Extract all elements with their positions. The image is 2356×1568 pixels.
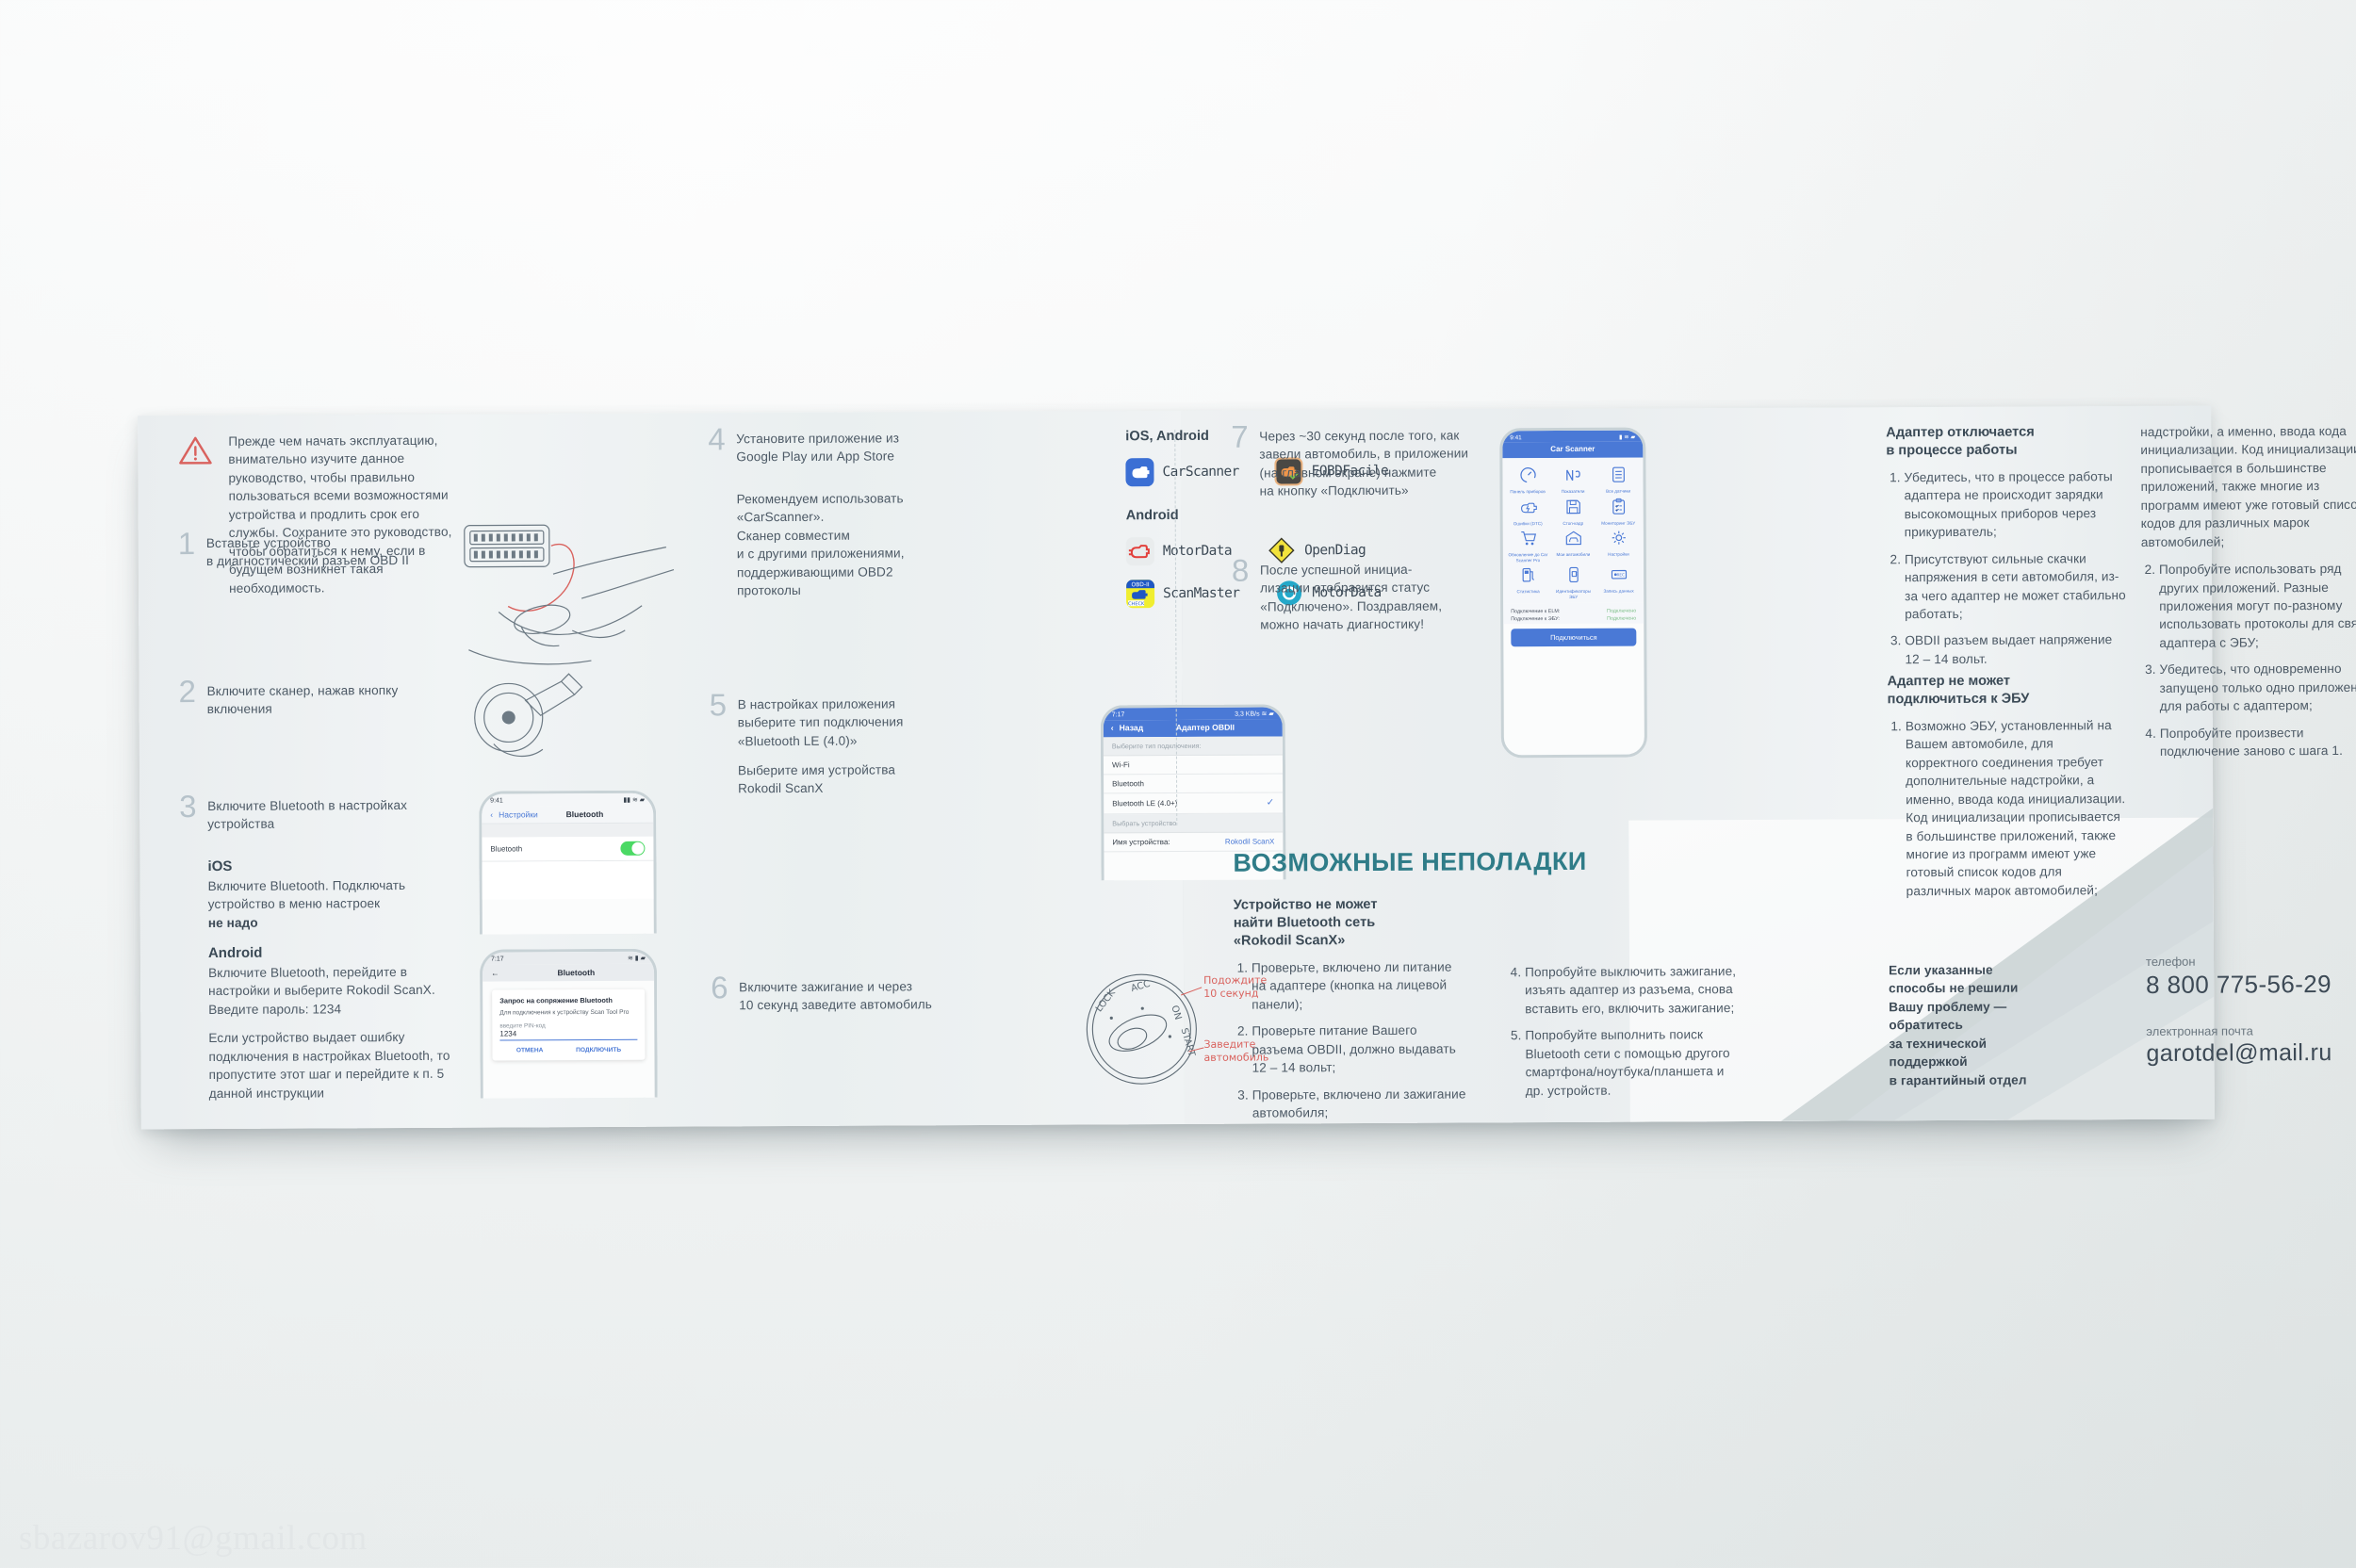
adapter-ecu-section: Адаптер не может подключиться к ЭБУ Возм… (1888, 672, 2129, 901)
tile-label: Ошибки (DTC) (1507, 521, 1549, 527)
step-3-line-1: Включите Bluetooth в настройках (207, 796, 443, 816)
tile-label: Мониторинг ЭБУ (1597, 520, 1640, 526)
phone-obd2-title: Адаптер OBDII (1136, 722, 1275, 732)
phone-android-title: Bluetooth (507, 968, 646, 978)
step-1-line-2: в диагностический разъем OBD II (206, 551, 461, 571)
tile-dtc[interactable]: Ошибки (DTC) (1507, 498, 1549, 527)
clipboard-check-icon (1608, 497, 1628, 515)
bluetooth-toggle[interactable] (620, 841, 645, 856)
chevron-left-icon[interactable]: ‹ (490, 810, 493, 820)
troubleshooting-subtitle-l2: найти Bluetooth сеть (1234, 913, 1469, 932)
phone-ios-navbar: ‹ Настройки Bluetooth (482, 806, 653, 825)
step-5-line-1: В настройках приложения (738, 694, 945, 714)
step-8: 8 После успешной инициа- лизации отобраз… (1232, 560, 1477, 634)
app-motordata[interactable]: MotorData (1126, 537, 1232, 566)
step-3: 3 Включите Bluetooth в настройках устрой… (179, 796, 443, 834)
status-ecu-value: Подключено (1607, 616, 1636, 622)
list-item: Попробуйте использовать ряд других прило… (2159, 560, 2356, 652)
adapter-disconnect-list: Убедитесь, что в процессе работы адаптер… (1886, 467, 2127, 669)
phone-ios-bluetooth-row[interactable]: Bluetooth (482, 837, 653, 862)
fuel-pump-icon (1517, 565, 1538, 584)
step-8-line-1: После успешной инициа- (1260, 560, 1477, 580)
graph-icon (1562, 465, 1583, 484)
android-block: Android Включите Bluetooth, перейдите в … (208, 944, 459, 1102)
phone-obd2-header-2: Выбрать устройство (1104, 813, 1283, 833)
step-3-line-2: устройства (207, 814, 443, 834)
tile-label: Запись данных (1597, 589, 1640, 595)
warning-block: Прежде чем начать эксплуатацию, внимател… (177, 432, 461, 597)
carscanner-title: Car Scanner (1502, 442, 1643, 459)
step-8-line-3: «Подключено». Поздравляем, (1260, 596, 1477, 616)
troubleshooting-subtitle: Устройство не может найти Bluetooth сеть… (1234, 895, 1469, 950)
adapter-ecu-title-l1: Адаптер не может (1888, 672, 2128, 691)
step-7-line-4: на кнопку «Подключить» (1260, 482, 1477, 501)
phone-obd2-signal-icon: 3,3 KB/s ≋ ▰ (1235, 710, 1274, 717)
tile-identifiers[interactable]: Идентификаторы ЭБУ (1552, 565, 1595, 599)
list-item: Убедитесь, что одновременно запущено тол… (2159, 660, 2356, 715)
step-7: 7 Через ~30 секунд после того, как завел… (1231, 426, 1476, 500)
adapter-disconnect-title-l2: в процессе работы (1886, 441, 2126, 460)
step-7-line-2: завели автомобиль, в приложении (1259, 445, 1476, 465)
contact-block: телефон 8 800 775-56-29 электронная почт… (2146, 954, 2356, 1068)
phone-obd2-time: 7:17 (1112, 711, 1125, 718)
obd2-option-label: Bluetooth LE (4.0+) (1112, 799, 1177, 808)
adapter-disconnect-section: Адаптер отключается в процессе работы Уб… (1886, 423, 2127, 669)
support-text-l3: Вашу проблему — (1889, 997, 2086, 1016)
app-scanmaster[interactable]: OBD-II CHECK ScanMaster (1126, 580, 1239, 609)
app-carscanner-label: CarScanner (1162, 465, 1238, 480)
phone-obd2-row-bluetooth[interactable]: Bluetooth (1104, 774, 1283, 793)
tile-label: Идентификаторы ЭБУ (1552, 589, 1595, 599)
ios-line-3: не надо (208, 913, 463, 933)
motordata-app-icon (1126, 537, 1154, 565)
troubleshooting-list-right: Попробуйте выключить зажигание, изъять а… (1507, 962, 1743, 1100)
carscanner-time: 9:41 (1510, 434, 1521, 441)
carscanner-signal-icon: ▮ ≋ ▰ (1619, 433, 1635, 441)
step4-note-1: Рекомендуем использовать «CarScanner». (737, 489, 940, 527)
tile-settings[interactable]: Настройки (1597, 529, 1640, 563)
phone-label: телефон (2146, 954, 2356, 969)
svg-text:CHECK: CHECK (1128, 601, 1145, 607)
tile-label: Статистика (1507, 589, 1549, 595)
phone-android-time: 7:17 (491, 955, 504, 962)
phone-ios-bluetooth-label: Bluetooth (490, 844, 522, 853)
tile-label: Мои автомобили (1552, 552, 1595, 558)
step-7-line-3: (на главном экране) нажмите (1259, 463, 1476, 482)
phone-obd2-navbar: ‹ Назад Адаптер OBDII (1104, 719, 1283, 737)
tile-mycars[interactable]: Мои автомобили (1552, 529, 1595, 563)
email-label: электронная почта (2146, 1023, 2356, 1038)
list-item: Попробуйте выключить зажигание, изъять а… (1525, 962, 1742, 1018)
ios-block: iOS Включите Bluetooth. Подключать устро… (207, 857, 462, 933)
status-row-ecu: Подключение к ЭБУ: Подключено (1511, 616, 1636, 623)
step5-note-1: Выберите имя устройства (738, 760, 945, 780)
chip-phone-icon (1562, 565, 1583, 584)
tile-indicators[interactable]: Показатели (1551, 465, 1594, 495)
obd2-device-label: Имя устройства: (1112, 838, 1170, 846)
list-item: Попробуйте выполнить поиск Bluetooth сет… (1525, 1025, 1742, 1100)
rec-icon: REC (1608, 565, 1628, 584)
phone-carscanner: 9:41 ▮ ≋ ▰ Car Scanner Панель приборов П… (1499, 428, 1647, 759)
status-ecu-label: Подключение к ЭБУ: (1511, 616, 1560, 622)
step-6: 6 Включите зажигание и через 10 секунд з… (711, 977, 956, 1015)
step-2-line-1: Включите сканер, нажав кнопку (207, 681, 462, 701)
tile-monitoring[interactable]: Мониторинг ЭБУ (1597, 497, 1640, 526)
list-item: Проверьте, включено ли питание на адапте… (1252, 957, 1469, 1013)
carscanner-app-icon (1125, 458, 1153, 486)
apps-heading-android: Android (1126, 506, 1362, 525)
step-2: 2 Включите сканер, нажав кнопку включени… (179, 681, 462, 719)
phone-ios-bluetooth: 9:41 ▮▮ ≋ ▰ ‹ Настройки Bluetooth Blueto… (479, 791, 657, 935)
step-1: 1 Вставьте устройство в диагностический … (178, 533, 461, 571)
step-4: 4 Установите приложение из Google Play и… (708, 429, 934, 466)
adapter-disconnect-title-l1: Адаптер отключается (1886, 423, 2126, 442)
support-text-l7: в гарантийный отдел (1890, 1070, 2087, 1089)
scanmaster-app-icon: OBD-II CHECK (1126, 580, 1154, 608)
list-item: Проверьте питание Вашего разъема OBDII, … (1252, 1021, 1469, 1077)
support-text-l2: способы не решили (1889, 979, 2086, 998)
carscanner-tile-grid: Панель приборов Показатели Все датчики О… (1502, 458, 1644, 604)
phone-android-statusbar: 7:17 ≋ ▮ ▰ (483, 952, 654, 965)
support-text-l5: за технической (1889, 1034, 2086, 1053)
tile-label: Показатели (1552, 489, 1595, 495)
ios-line-1: Включите Bluetooth. Подключать (208, 876, 463, 896)
tile-label: Все датчики (1597, 489, 1640, 495)
cart-icon (1517, 529, 1538, 547)
phone-ios-time: 9:41 (490, 797, 503, 804)
step-5-number: 5 (710, 689, 728, 720)
obd2-option-label: Bluetooth (1112, 779, 1144, 788)
step-8-number: 8 (1232, 555, 1250, 586)
list-item: Присутствуют сильные скачки напряжения в… (1905, 549, 2127, 624)
pairing-dialog-title: Запрос на сопряжение Bluetooth (499, 996, 637, 1005)
step-8-line-2: лизации отобразится статус (1260, 579, 1477, 598)
adapter-ecu-list-left: Возможно ЭБУ, установленный на Вашем авт… (1888, 716, 2129, 901)
list-item: Проверьте, включено ли зажигание автомоб… (1252, 1085, 1470, 1122)
troubleshooting-list-left: Проверьте, включено ли питание на адапте… (1234, 957, 1470, 1122)
tile-all-sensors[interactable]: Все датчики (1596, 465, 1639, 495)
android-paragraph-2: Если устройство выдает ошибку подключени… (208, 1028, 458, 1102)
phone-android-signal-icon: ≋ ▮ ▰ (628, 955, 646, 962)
troubleshooting-banner: ВОЗМОЖНЫЕ НЕПОЛАДКИ (1233, 846, 1760, 878)
svg-text:REC: REC (1616, 572, 1625, 577)
support-text-l4: обратитесь (1889, 1016, 2086, 1035)
support-text-l1: Если указанные (1889, 960, 2086, 979)
step-5-line-2: выберите тип подключения (738, 713, 945, 733)
ignition-switch-diagram: LOCK ACC ON START Подождите 10 секунд За… (1083, 957, 1253, 1109)
step4-note-5: протоколы (737, 580, 940, 599)
step-1-number: 1 (178, 528, 196, 559)
step-6-line-1: Включите зажигание и через (739, 977, 956, 997)
tile-label: Настройки (1597, 552, 1640, 558)
ios-title: iOS (207, 857, 462, 874)
carscanner-status-block: Подключение к ELM: Подключено Подключени… (1503, 603, 1644, 625)
tile-statistics[interactable]: Статистика (1507, 565, 1549, 599)
floppy-save-icon (1562, 497, 1583, 515)
ecu-item-1-continued: надстройки, а именно, ввода кода инициал… (2140, 422, 2356, 551)
step-4-note: Рекомендуем использовать «CarScanner». С… (737, 489, 941, 600)
pin-input[interactable]: 1234 (499, 1029, 637, 1041)
phone-android-navbar: ← Bluetooth (483, 964, 654, 982)
warning-text: Прежде чем начать эксплуатацию, внимател… (228, 432, 461, 597)
phone-ios-statusbar: 9:41 ▮▮ ≋ ▰ (482, 793, 653, 807)
warning-triangle-icon (177, 434, 213, 466)
svg-text:OBD-II: OBD-II (1131, 581, 1149, 588)
carscanner-statusbar: 9:41 ▮ ≋ ▰ (1502, 431, 1643, 443)
tile-label: Панель приборов (1507, 489, 1549, 495)
back-arrow-icon[interactable]: ← (491, 969, 499, 978)
list-item: Попробуйте произвести подключение заново… (2160, 723, 2356, 760)
adapter-ecu-title-l2: подключиться к ЭБУ (1888, 690, 2128, 709)
pairing-cancel-button[interactable]: ОТМЕНА (516, 1047, 544, 1053)
checkmark-icon: ✓ (1267, 797, 1274, 808)
android-title: Android (208, 944, 458, 961)
adapter-disconnect-title: Адаптер отключается в процессе работы (1886, 423, 2126, 460)
list-icon (1608, 465, 1628, 484)
tile-recording[interactable]: RECЗапись данных (1597, 565, 1640, 599)
tile-upgrade[interactable]: Обновление до Car Scanner Pro (1507, 529, 1549, 563)
support-text: Если указанные способы не решили Вашу пр… (1889, 960, 2087, 1089)
dashboard-gauge-icon (1517, 465, 1538, 484)
chevron-left-icon[interactable]: ‹ (1111, 723, 1114, 732)
ignition-switch-icon: LOCK ACC ON START (1083, 957, 1216, 1100)
step-2-line-2: включения (207, 699, 462, 719)
step5-note-2: Rokodil ScanX (738, 779, 945, 799)
troubleshooting-subtitle-l1: Устройство не может (1234, 895, 1469, 914)
step-4-line-2: Google Play или App Store (736, 448, 934, 466)
list-item: Убедитесь, что в процессе работы адаптер… (1904, 467, 2126, 542)
step-2-number: 2 (179, 676, 197, 707)
watermark: sbazarov91@gmail.com (19, 1518, 368, 1559)
pairing-dialog-text: Для подключения к устройству Scan Tool P… (499, 1009, 637, 1019)
phone-android-bluetooth: 7:17 ≋ ▮ ▰ ← Bluetooth Запрос на сопряже… (480, 949, 658, 1099)
support-text-l6: поддержкой (1889, 1052, 2086, 1070)
tile-dashboard[interactable]: Панель приборов (1506, 465, 1548, 495)
step-8-line-4: можно начать диагностику! (1260, 615, 1477, 635)
step-6-line-2: 10 секунд заведите автомобиль (739, 996, 956, 1016)
app-opendiag-label: OpenDiag (1304, 543, 1366, 558)
app-scanmaster-label: ScanMaster (1163, 586, 1239, 601)
step4-note-2: Сканер совместим (737, 526, 940, 545)
android-paragraph-1: Включите Bluetooth, перейдите в настройк… (208, 963, 458, 1020)
status-elm-value: Подключено (1607, 609, 1636, 614)
tile-label: Обновление до Car Scanner Pro (1507, 552, 1549, 563)
garage-car-icon (1562, 529, 1583, 547)
step-7-number: 7 (1231, 421, 1249, 452)
pairing-dialog: Запрос на сопряжение Bluetooth Для подкл… (492, 989, 645, 1061)
step-3-number: 3 (179, 791, 197, 822)
step-6-number: 6 (711, 972, 728, 1003)
obd2-option-label: Wi-Fi (1112, 760, 1130, 769)
status-elm-label: Подключение к ELM: (1511, 609, 1560, 614)
step-4-line-1: Установите приложение из (736, 429, 934, 448)
phone-value[interactable]: 8 800 775-56-29 (2146, 970, 2356, 1000)
step-5-note: Выберите имя устройства Rokodil ScanX (738, 760, 945, 798)
gear-icon (1608, 529, 1628, 547)
svg-text:ON: ON (1169, 1004, 1183, 1021)
step-4-number: 4 (708, 423, 726, 454)
phone-obd2-row-ble[interactable]: Bluetooth LE (4.0+) ✓ (1104, 792, 1283, 814)
step4-note-3: и с другими приложениями, (737, 545, 940, 563)
phone-obd2-statusbar: 7:17 3,3 KB/s ≋ ▰ (1104, 707, 1283, 720)
obd2-device-value: Rokodil ScanX (1225, 837, 1275, 845)
email-value[interactable]: garotdel@mail.ru (2146, 1039, 2356, 1068)
instruction-booklet: Прежде чем начать эксплуатацию, внимател… (138, 406, 2215, 1130)
list-item: Возможно ЭБУ, установленный на Вашем авт… (1906, 716, 2129, 901)
phone-ios-title: Bluetooth (525, 809, 646, 820)
phone-obd2-header-1: Выберите тип подключения: (1104, 736, 1283, 756)
step4-note-4: поддерживающими OBD2 (737, 563, 940, 581)
phone-obd2-row-wifi[interactable]: Wi-Fi (1104, 755, 1283, 775)
adapter-ecu-list-right: Попробуйте использовать ряд других прило… (2141, 560, 2356, 761)
troubleshooting-subtitle-l3: «Rokodil ScanX» (1234, 931, 1469, 950)
app-carscanner[interactable]: CarScanner (1125, 458, 1238, 487)
connect-button[interactable]: Подключиться (1511, 629, 1636, 647)
app-motordata-label: MotorData (1163, 544, 1232, 559)
svg-text:LOCK: LOCK (1094, 988, 1118, 1014)
engine-error-icon (1517, 498, 1538, 516)
troubleshooting-section: ВОЗМОЖНЫЕ НЕПОЛАДКИ Устройство не может … (1233, 846, 1761, 1122)
step-5: 5 В настройках приложения выберите тип п… (710, 694, 945, 751)
pairing-connect-button[interactable]: ПОДКЛЮЧИТЬ (576, 1047, 621, 1053)
phone-ios-signal-icon: ▮▮ ≋ ▰ (623, 796, 645, 804)
status-row-elm: Подключение к ELM: Подключено (1511, 609, 1636, 615)
step-7-line-1: Через ~30 секунд после того, как (1259, 426, 1476, 446)
step-5-line-3: «Bluetooth LE (4.0)» (738, 731, 945, 751)
adapter-ecu-continuation: надстройки, а именно, ввода кода инициал… (2140, 422, 2356, 761)
step-1-line-1: Вставьте устройство (206, 533, 461, 553)
list-item: OBDII разъем выдает напряжение 12 – 14 в… (1905, 631, 2127, 669)
adapter-ecu-title: Адаптер не может подключиться к ЭБУ (1888, 672, 2128, 709)
tile-freezeframe[interactable]: Стоп-кадр (1552, 497, 1595, 526)
tile-label: Стоп-кадр (1552, 520, 1595, 526)
ios-line-2: устройство в меню настроек (208, 894, 463, 914)
